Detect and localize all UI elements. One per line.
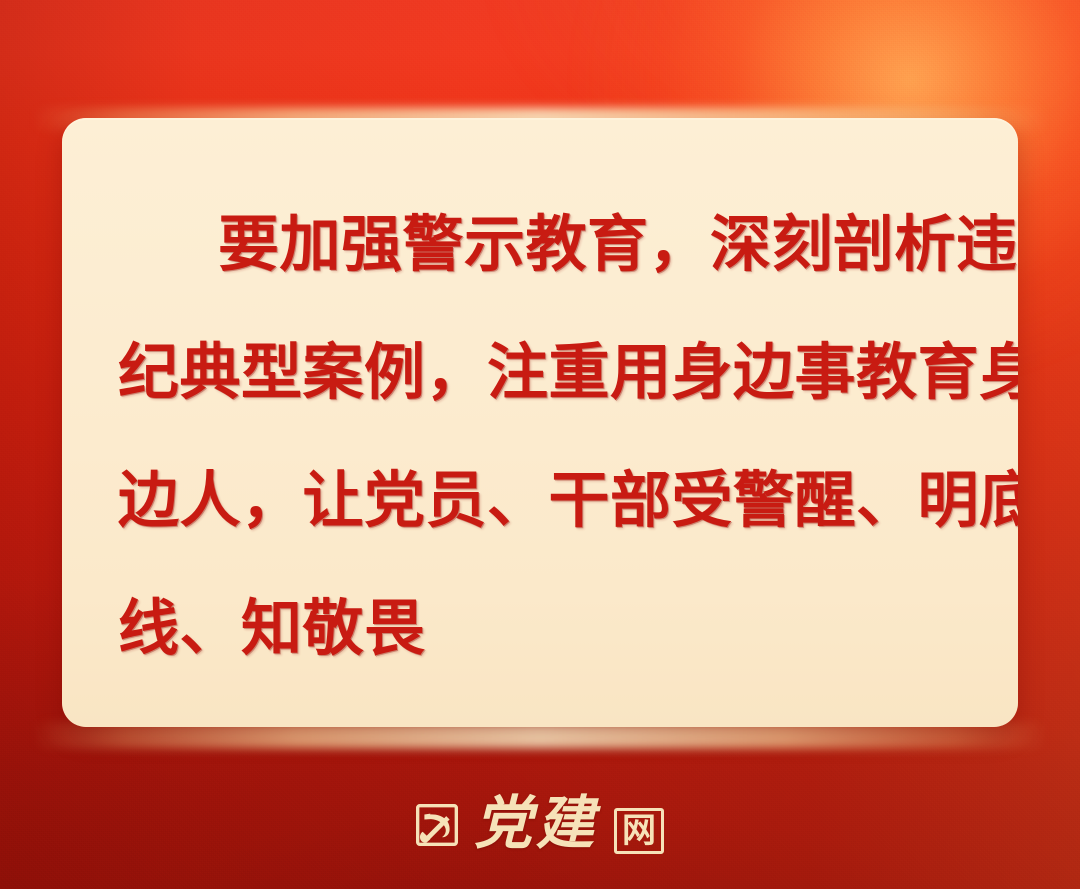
quote-line-3: 边人，让党员、干部受警醒、明底: [118, 438, 962, 566]
quote-text-block: 要加强警示教育，深刻剖析违 纪典型案例，注重用身边事教育身 边人，让党员、干部受…: [62, 118, 1018, 694]
brand-name: 党建: [474, 795, 598, 853]
brand-suffix: 网: [614, 808, 664, 854]
quote-poster: 要加强警示教育，深刻剖析违 纪典型案例，注重用身边事教育身 边人，让党员、干部受…: [0, 0, 1080, 889]
quote-card: 要加强警示教育，深刻剖析违 纪典型案例，注重用身边事教育身 边人，让党员、干部受…: [62, 118, 1018, 727]
cpc-hammer-sickle-emblem-icon: [416, 804, 458, 846]
quote-line-1: 要加强警示教育，深刻剖析违: [118, 182, 962, 310]
brand-logo: 党建 网: [0, 775, 1080, 873]
quote-line-4: 线、知敬畏: [118, 566, 962, 694]
quote-line-2: 纪典型案例，注重用身边事教育身: [118, 310, 962, 438]
